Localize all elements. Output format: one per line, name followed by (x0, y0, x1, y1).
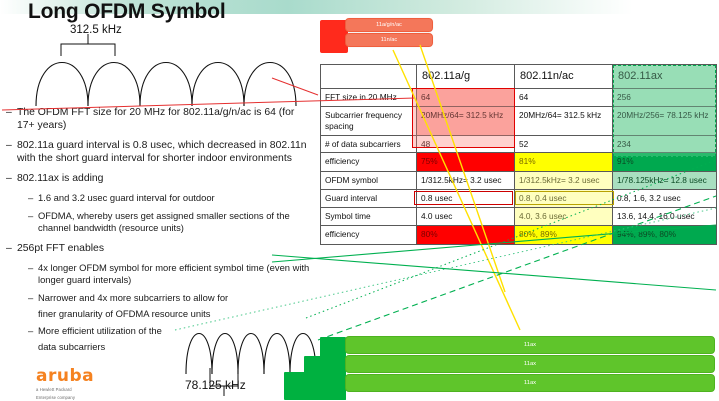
wide-subcarrier-diagram (28, 22, 318, 106)
cell-11nac: 52 (515, 135, 613, 153)
dash-icon: – (6, 242, 17, 255)
cell-11ag: 75% (417, 153, 515, 172)
bullet-text-line1: More efficient utilization of the (38, 325, 162, 336)
cell-11ag: 0.8 usec (417, 190, 515, 208)
cell-11ax: 91% (613, 153, 717, 172)
green-bar-11ax-1[interactable]: 11ax (345, 336, 715, 354)
cell-11ag: 48 (417, 135, 515, 153)
bullet-text: 4x longer OFDM symbol for more efficient… (38, 262, 312, 286)
cell-11ag: 1/312.5kHz= 3.2 usec (417, 172, 515, 190)
row-label-efficiency: efficiency (321, 153, 417, 172)
bullet-text: OFDMA, whereby users get assigned smalle… (38, 210, 312, 234)
cell-11nac: 1/312.5kHz= 3.2 usec (515, 172, 613, 190)
dash-icon: – (6, 106, 17, 132)
table-header-blank (321, 65, 417, 89)
bullet-item: –802.11ax is adding (6, 172, 312, 185)
cell-11ax: 20MHz/256= 78.125 kHz (613, 107, 717, 136)
sub-bullet-item: –OFDMA, whereby users get assigned small… (6, 210, 312, 234)
cell-11ax: 0.8, 1.6, 3.2 usec (613, 190, 717, 208)
cell-11ax: 13.6, 14.4, 16.0 usec (613, 207, 717, 225)
legend-red-tab (320, 20, 348, 53)
bullet-text: The OFDM FFT size for 20 MHz for 802.11a… (17, 106, 312, 132)
cell-11ag: 80% (417, 225, 515, 244)
table-row: Guard interval 0.8 usec 0.8, 0.4 usec 0.… (321, 190, 717, 208)
page-title: Long OFDM Symbol (28, 0, 225, 24)
dash-icon: – (28, 192, 38, 204)
table-row: # of data subcarriers 48 52 234 (321, 135, 717, 153)
ofdm-comparison-table: 802.11a/g 802.11n/ac 802.11ax FFT size i… (320, 64, 717, 245)
cell-11ax: 234 (613, 135, 717, 153)
table-row: efficiency 80% 80%, 89% 94%, 89%, 80% (321, 225, 717, 244)
table-row: efficiency 75% 81% 91% (321, 153, 717, 172)
cell-11nac: 64 (515, 89, 613, 107)
dash-icon: – (6, 139, 17, 165)
row-label: Guard interval (321, 190, 417, 208)
table-row: Subcarrier frequency spacing 20MHz/64= 3… (321, 107, 717, 136)
aruba-logo: aruba a Hewlett Packard Enterprise compa… (36, 368, 94, 400)
table-header-row: 802.11a/g 802.11n/ac 802.11ax (321, 65, 717, 89)
table-row: OFDM symbol 1/312.5kHz= 3.2 usec 1/312.5… (321, 172, 717, 190)
bullet-text: 1.6 and 3.2 usec guard interval for outd… (38, 192, 312, 204)
table-header-11ax: 802.11ax (613, 65, 717, 89)
table-header-11nac: 802.11n/ac (515, 65, 613, 89)
sub-bullet-item: –4x longer OFDM symbol for more efficien… (6, 262, 312, 286)
green-step-3 (320, 337, 346, 400)
dash-icon: – (28, 292, 38, 320)
row-label: OFDM symbol (321, 172, 417, 190)
bullet-text: 256pt FFT enables (17, 242, 312, 255)
brand-tagline-line1: a Hewlett Packard (36, 387, 94, 393)
cell-11ag: 64 (417, 89, 515, 107)
legend-pill-11agnac[interactable]: 11a/g/n/ac (345, 18, 433, 32)
cell-11nac: 4.0, 3.6 usec (515, 207, 613, 225)
bullet-text: 802.11a guard interval is 0.8 usec, whic… (17, 139, 312, 165)
cell-11nac: 80%, 89% (515, 225, 613, 244)
sub-bullet-item: –1.6 and 3.2 usec guard interval for out… (6, 192, 312, 204)
cell-11ag: 4.0 usec (417, 207, 515, 225)
cell-11ax: 256 (613, 89, 717, 107)
row-label: Subcarrier frequency spacing (321, 107, 417, 136)
bullet-item: –The OFDM FFT size for 20 MHz for 802.11… (6, 106, 312, 132)
dash-icon: – (28, 210, 38, 234)
dash-icon: – (6, 172, 17, 185)
cell-11ax: 94%, 89%, 80% (613, 225, 717, 244)
legend-pill-11nac[interactable]: 11n/ac (345, 33, 433, 47)
slide-canvas: Long OFDM Symbol 312.5 kHz –The OFDM FFT… (0, 0, 719, 401)
cell-11nac: 81% (515, 153, 613, 172)
cell-11ax: 1/78.125kHz= 12.8 usec (613, 172, 717, 190)
table-header-11ag: 802.11a/g (417, 65, 515, 89)
brand-wordmark: aruba (36, 368, 94, 385)
cell-11nac: 20MHz/64= 312.5 kHz (515, 107, 613, 136)
table-row: Symbol time 4.0 usec 4.0, 3.6 usec 13.6,… (321, 207, 717, 225)
row-label: # of data subcarriers (321, 135, 417, 153)
cell-11ag: 20MHz/64= 312.5 kHz (417, 107, 515, 136)
row-label: FFT size in 20 MHz (321, 89, 417, 107)
dash-icon: – (28, 262, 38, 286)
row-label-efficiency: efficiency (321, 225, 417, 244)
row-label: Symbol time (321, 207, 417, 225)
green-bar-11ax-2[interactable]: 11ax (345, 355, 715, 373)
green-bar-11ax-3[interactable]: 11ax (345, 374, 715, 392)
dash-icon: – (28, 325, 38, 353)
bullet-item: –256pt FFT enables (6, 242, 312, 255)
bullet-text: 802.11ax is adding (17, 172, 312, 185)
legend-pill-stack: 11a/g/n/ac 11n/ac (345, 18, 433, 48)
bullet-text-line1: Narrower and 4x more subcarriers to allo… (38, 292, 228, 303)
bullet-item: –802.11a guard interval is 0.8 usec, whi… (6, 139, 312, 165)
table-row: FFT size in 20 MHz 64 64 256 (321, 89, 717, 107)
bottom-frequency-label: 78.125 kHz (185, 378, 246, 392)
green-bar-stack: 11ax 11ax 11ax (345, 336, 715, 393)
cell-11nac: 0.8, 0.4 usec (515, 190, 613, 208)
brand-tagline-line2: Enterprise company (36, 395, 94, 401)
